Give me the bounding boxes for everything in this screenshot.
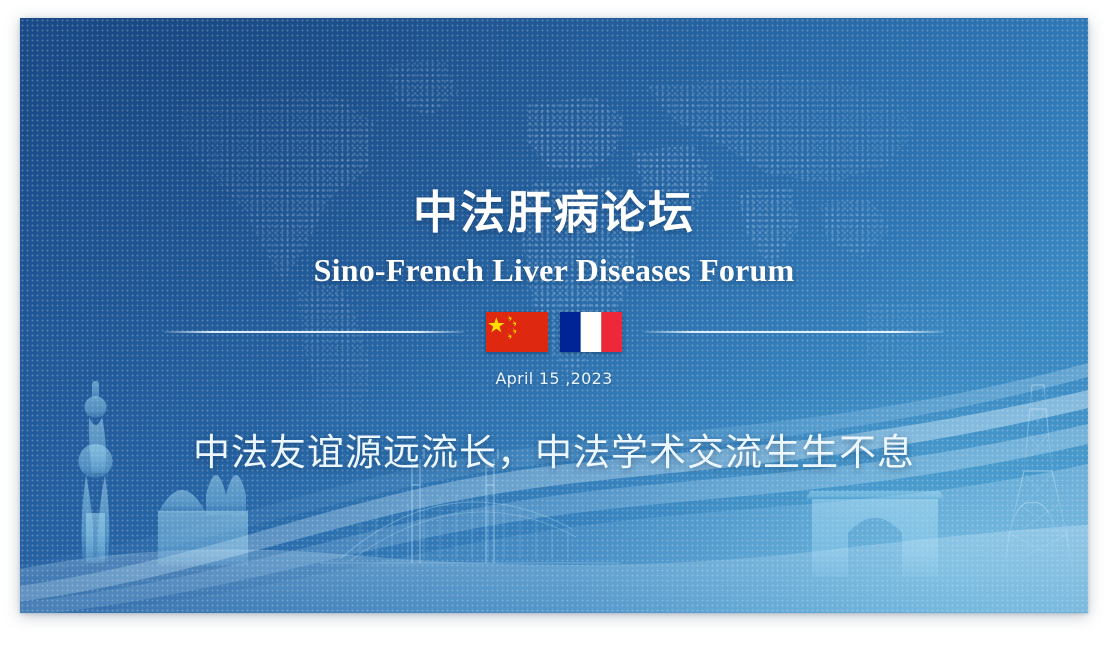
france-flag-icon: [560, 312, 622, 352]
slide-slogan: 中法友谊源远流长，中法学术交流生生不息: [193, 422, 915, 476]
page-title-english: Sino-French Liver Diseases Forum: [314, 254, 795, 286]
flag-group: [486, 312, 622, 352]
divider-line-left: [164, 331, 464, 333]
page-background: 中法肝病论坛 Sino-French Liver Diseases Forum: [0, 0, 1112, 648]
flag-divider-row: [20, 312, 1088, 352]
china-flag-icon: [486, 312, 548, 352]
slide-content: 中法肝病论坛 Sino-French Liver Diseases Forum: [20, 18, 1088, 613]
presentation-slide: 中法肝病论坛 Sino-French Liver Diseases Forum: [20, 18, 1088, 613]
event-date: April 15 ,2023: [495, 369, 612, 388]
divider-line-right: [644, 331, 944, 333]
page-title-chinese: 中法肝病论坛: [413, 190, 695, 235]
